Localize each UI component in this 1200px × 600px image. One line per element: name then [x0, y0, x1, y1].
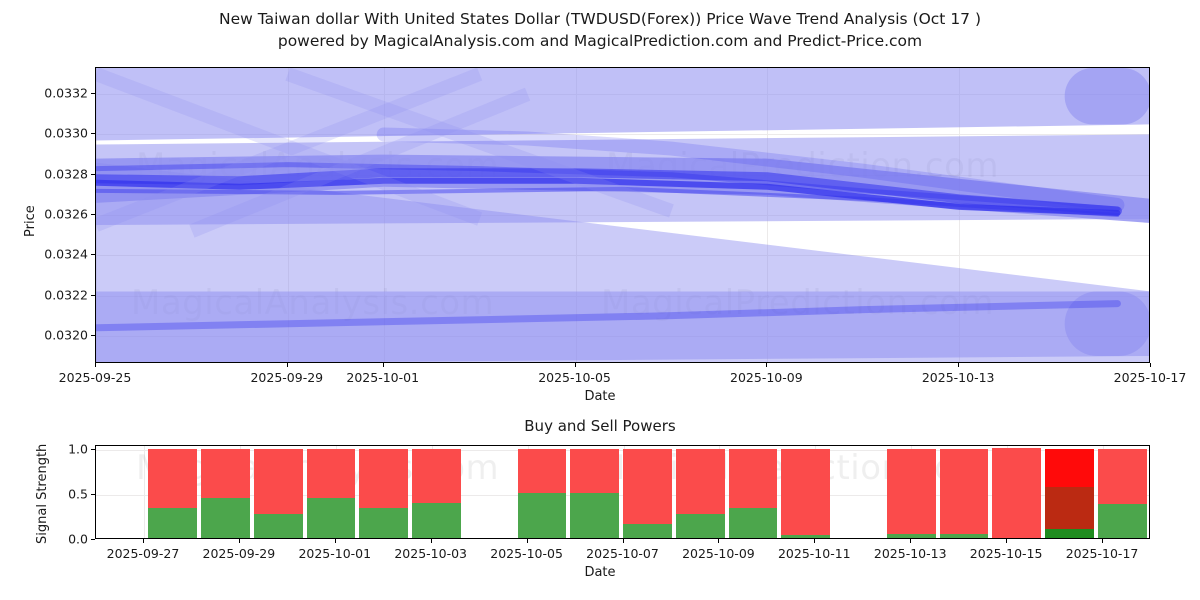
sell-power-segment: [518, 449, 567, 494]
powers-x-tick: [239, 539, 240, 543]
price-y-tick-label: 0.0332: [33, 86, 88, 101]
price-y-tick-label: 0.0328: [33, 166, 88, 181]
signal-bar[interactable]: [201, 448, 250, 538]
sell-power-segment: [992, 448, 1041, 538]
powers-x-tick-label: 2025-10-01: [298, 546, 371, 561]
sell-power-segment: [307, 449, 356, 498]
sell-power-segment: [781, 449, 830, 536]
sell-power-segment: [201, 449, 250, 498]
price-y-axis-label: Price: [23, 205, 38, 237]
price-x-tick: [287, 363, 288, 367]
powers-y-tick-label: 0.5: [49, 487, 88, 502]
buy-power-segment: [676, 514, 725, 538]
signal-bar[interactable]: [676, 448, 725, 538]
price-y-tick: [91, 214, 95, 215]
price-x-tick: [575, 363, 576, 367]
price-x-tick: [383, 363, 384, 367]
buy-power-segment: [254, 514, 303, 538]
powers-x-tick-label: 2025-10-09: [682, 546, 755, 561]
buy-power-segment: [307, 498, 356, 538]
powers-x-axis-label: Date: [0, 565, 1200, 580]
powers-x-tick: [623, 539, 624, 543]
price-x-tick-label: 2025-10-09: [730, 370, 803, 385]
buy-power-segment: [518, 493, 567, 538]
price-x-tick: [95, 363, 96, 367]
powers-y-tick: [91, 449, 95, 450]
price-x-tick-label: 2025-09-29: [250, 370, 323, 385]
price-y-tick-label: 0.0324: [33, 247, 88, 262]
powers-y-tick: [91, 539, 95, 540]
powers-x-tick-label: 2025-09-27: [107, 546, 180, 561]
price-y-tick-label: 0.0326: [33, 206, 88, 221]
powers-x-tick: [718, 539, 719, 543]
powers-gridline-v: [144, 446, 145, 538]
signal-bar[interactable]: [940, 448, 989, 538]
sell-power-segment: [254, 449, 303, 514]
buy-power-segment: [729, 508, 778, 538]
price-x-tick-label: 2025-10-01: [346, 370, 419, 385]
signal-bar[interactable]: [781, 448, 830, 538]
powers-x-tick-label: 2025-10-13: [874, 546, 947, 561]
powers-x-tick: [431, 539, 432, 543]
sell-power-segment-dark: [1045, 487, 1094, 529]
sell-power-segment: [623, 449, 672, 524]
signal-bar[interactable]: [992, 448, 1041, 538]
signal-bar[interactable]: [887, 448, 936, 538]
buy-power-segment: [359, 508, 408, 538]
buy-power-segment: [1098, 504, 1147, 538]
price-y-tick: [91, 174, 95, 175]
buy-sell-powers-chart: MagicalAnalysis.comMagicalPrediction.com: [95, 445, 1150, 539]
price-y-tick: [91, 133, 95, 134]
powers-x-tick-label: 2025-10-05: [490, 546, 563, 561]
price-wave-chart: MagicalAnalysis.comMagicalPrediction.com…: [95, 67, 1150, 363]
price-wave-bands: [96, 68, 1150, 363]
signal-bar[interactable]: [518, 448, 567, 538]
chart-title-block: New Taiwan dollar With United States Dol…: [0, 8, 1200, 52]
sell-power-segment: [676, 449, 725, 514]
buy-power-segment: [201, 498, 250, 538]
signal-bar[interactable]: [254, 448, 303, 538]
sell-power-segment: [887, 449, 936, 535]
signal-bar[interactable]: [148, 448, 197, 538]
powers-x-tick: [527, 539, 528, 543]
price-x-tick-label: 2025-10-17: [1114, 370, 1187, 385]
sell-power-segment: [148, 449, 197, 509]
sell-power-segment: [1098, 449, 1147, 504]
buy-power-segment: [940, 534, 989, 538]
signal-bar[interactable]: [359, 448, 408, 538]
price-x-axis-label: Date: [0, 389, 1200, 404]
powers-x-tick-label: 2025-10-17: [1066, 546, 1139, 561]
powers-x-tick: [1006, 539, 1007, 543]
powers-y-axis-label: Signal Strength: [35, 444, 50, 544]
buy-power-segment: [412, 503, 461, 538]
powers-x-tick: [143, 539, 144, 543]
signal-bar[interactable]: [307, 448, 356, 538]
powers-x-tick: [1102, 539, 1103, 543]
signal-bar[interactable]: [729, 448, 778, 538]
powers-y-tick: [91, 494, 95, 495]
powers-y-tick-label: 1.0: [49, 442, 88, 457]
powers-x-tick-label: 2025-10-07: [586, 546, 659, 561]
price-x-tick-label: 2025-09-25: [59, 370, 132, 385]
buy-power-segment: [781, 535, 830, 538]
signal-bar[interactable]: [623, 448, 672, 538]
powers-x-tick: [335, 539, 336, 543]
signal-bar[interactable]: [412, 448, 461, 538]
page-title-line2: powered by MagicalAnalysis.com and Magic…: [0, 30, 1200, 52]
buy-power-segment: [1045, 529, 1094, 538]
powers-x-tick: [814, 539, 815, 543]
price-x-tick-label: 2025-10-05: [538, 370, 611, 385]
powers-y-tick-label: 0.0: [49, 532, 88, 547]
price-y-tick-label: 0.0330: [33, 126, 88, 141]
signal-bar[interactable]: [1098, 448, 1147, 538]
buy-power-segment: [570, 493, 619, 538]
price-x-tick: [766, 363, 767, 367]
powers-chart-title: Buy and Sell Powers: [0, 417, 1200, 435]
price-x-tick: [958, 363, 959, 367]
sell-power-segment: [570, 449, 619, 494]
price-y-tick: [91, 295, 95, 296]
powers-x-tick-label: 2025-10-03: [394, 546, 467, 561]
sell-power-segment: [940, 449, 989, 535]
powers-x-tick-label: 2025-09-29: [203, 546, 276, 561]
signal-bar[interactable]: [1045, 448, 1094, 538]
powers-x-tick: [910, 539, 911, 543]
sell-power-segment: [412, 449, 461, 504]
powers-x-tick-label: 2025-10-11: [778, 546, 851, 561]
buy-power-segment: [148, 508, 197, 538]
sell-power-segment: [359, 449, 408, 509]
wave-band-cap: [1065, 68, 1150, 124]
buy-power-segment: [887, 534, 936, 538]
signal-bar[interactable]: [570, 448, 619, 538]
price-x-tick-label: 2025-10-13: [922, 370, 995, 385]
buy-power-segment: [623, 524, 672, 538]
price-y-tick: [91, 93, 95, 94]
sell-power-segment: [1045, 449, 1094, 488]
powers-x-tick-label: 2025-10-15: [970, 546, 1043, 561]
price-y-tick-label: 0.0322: [33, 287, 88, 302]
sell-power-segment: [729, 449, 778, 509]
price-y-tick-label: 0.0320: [33, 327, 88, 342]
page-title-line1: New Taiwan dollar With United States Dol…: [0, 8, 1200, 30]
price-y-tick: [91, 335, 95, 336]
price-y-tick: [91, 254, 95, 255]
price-x-tick: [1150, 363, 1151, 367]
